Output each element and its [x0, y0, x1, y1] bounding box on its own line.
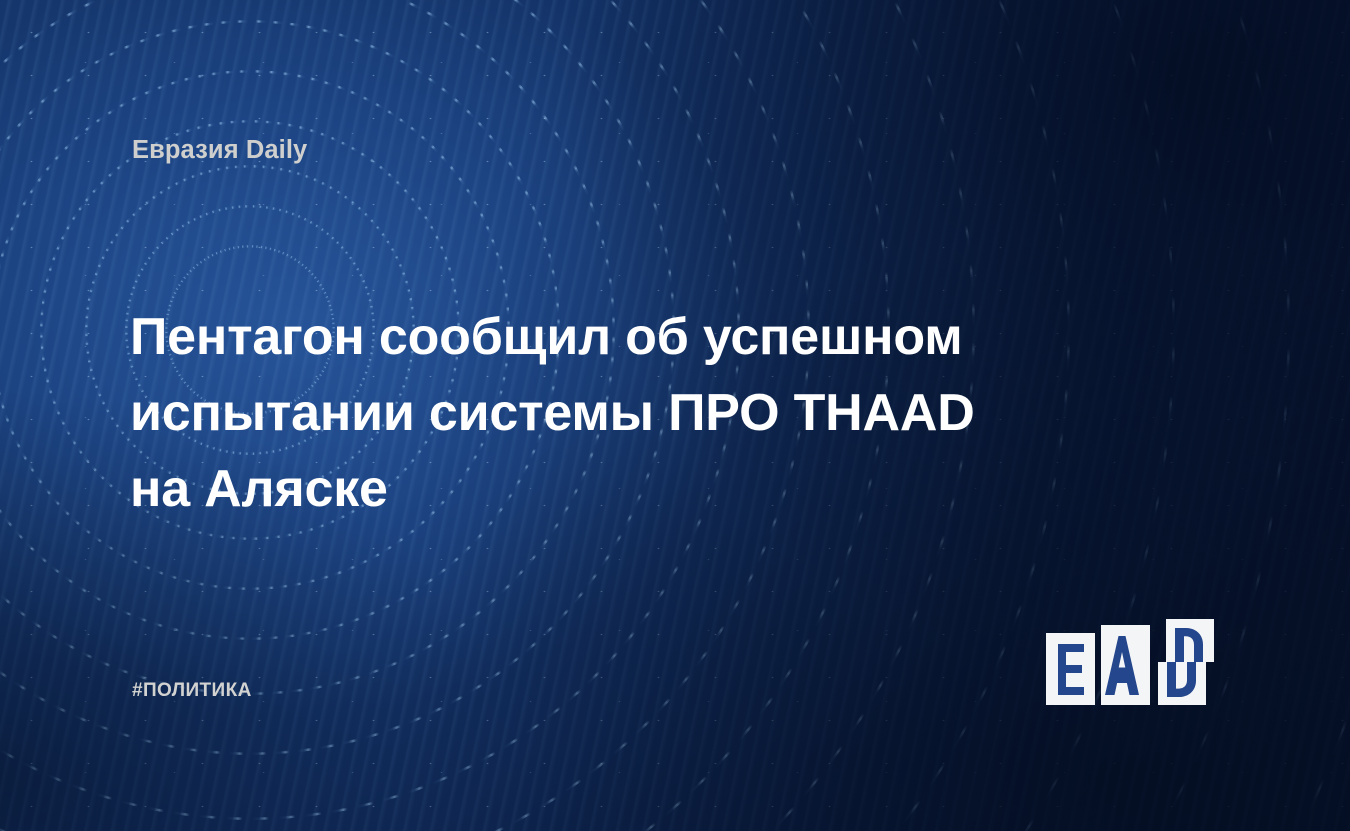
brand-wordmark: Евразия Daily	[132, 136, 307, 165]
card-content: Евразия Daily Пентагон сообщил об успешн…	[0, 0, 1350, 831]
page-title: Пентагон сообщил об успешном испытании с…	[130, 299, 1050, 527]
ead-logo-icon[interactable]	[1044, 610, 1224, 715]
headline-line: на Аляске	[130, 451, 1050, 527]
category-hashtag[interactable]: #ПОЛИТИКА	[132, 680, 252, 702]
headline-line: Пентагон сообщил об успешном	[130, 299, 1050, 375]
headline-line: испытании системы ПРО THAAD	[130, 375, 1050, 451]
news-share-card: Евразия Daily Пентагон сообщил об успешн…	[0, 0, 1350, 831]
